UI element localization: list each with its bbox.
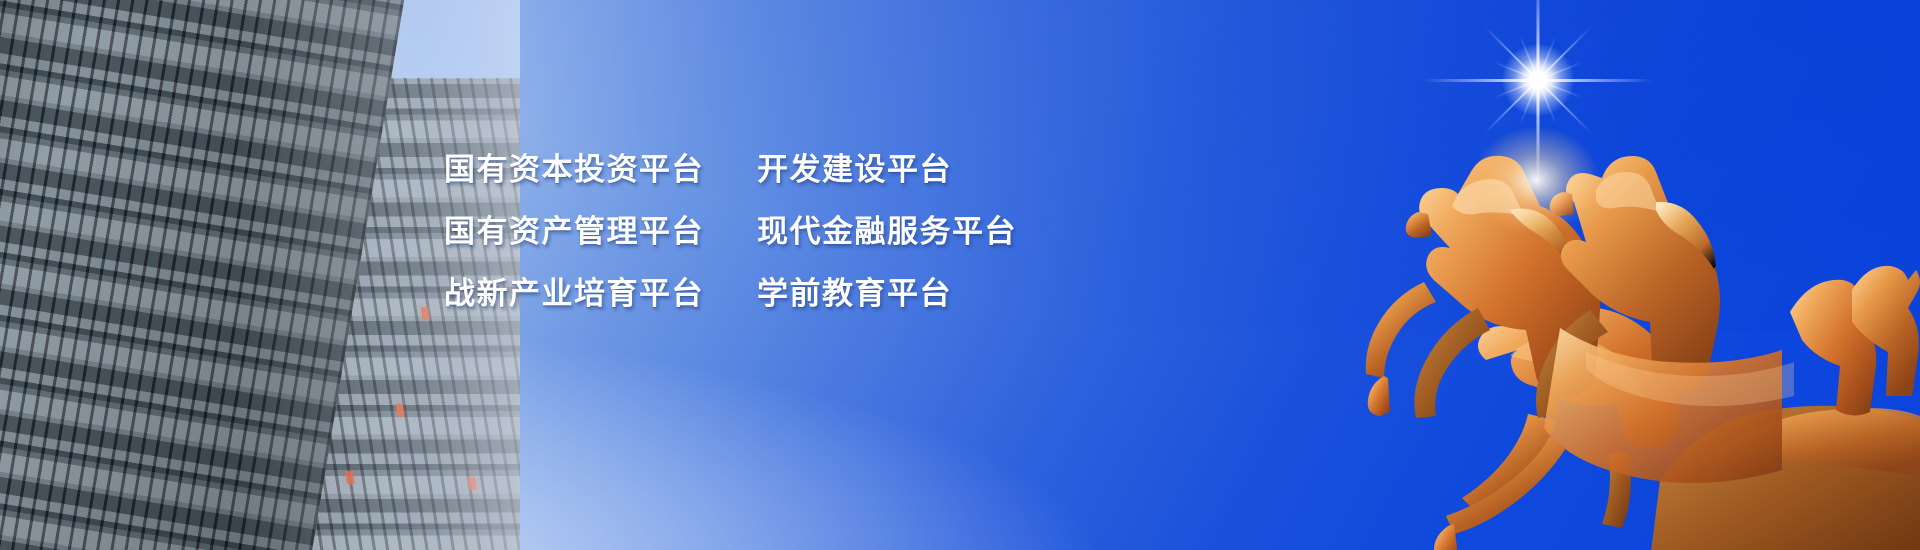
flare-ray [1537, 0, 1540, 195]
horse-lead-muzzle [1406, 212, 1432, 238]
horse-lead-foreleg-lower [1414, 308, 1490, 418]
horse-lead-hoof [1368, 376, 1390, 416]
horse-rear-leg-left [1446, 436, 1566, 534]
platform-label-state-asset-management: 国有资产管理平台 [444, 208, 757, 256]
horse-rear-hoof [1434, 524, 1458, 550]
platform-label-grid: 国有资本投资平台 开发建设平台 国有资产管理平台 现代金融服务平台 战新产业培育… [444, 146, 1017, 318]
platform-label-development-construction: 开发建设平台 [757, 146, 1017, 194]
platform-label-modern-financial-services: 现代金融服务平台 [757, 208, 1017, 256]
office-building-photo [0, 0, 520, 550]
horse-sculpture-icon [1360, 60, 1920, 550]
platform-label-state-capital-investment: 国有资本投资平台 [444, 146, 757, 194]
platform-label-preschool-education: 学前教育平台 [757, 270, 1017, 318]
sun-starburst-flare [1536, 78, 1540, 82]
hero-banner: 国有资本投资平台 开发建设平台 国有资产管理平台 现代金融服务平台 战新产业培育… [0, 0, 1920, 550]
bronze-horse-sculpture [1360, 60, 1920, 550]
platform-label-strategic-emerging-industry: 战新产业培育平台 [444, 270, 757, 318]
